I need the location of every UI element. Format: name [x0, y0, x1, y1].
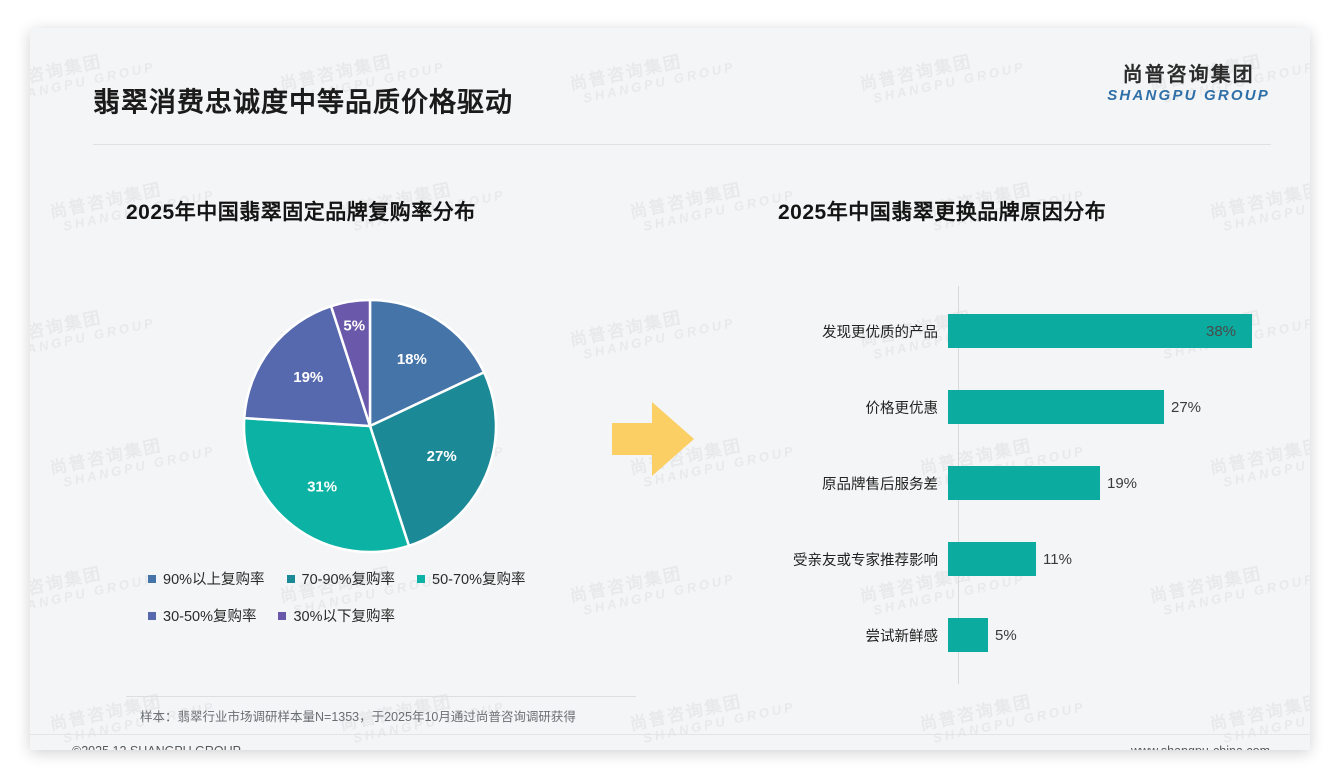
right-arrow-icon — [608, 396, 698, 487]
pie-legend-item[interactable]: 30-50%复购率 — [148, 605, 256, 626]
copyright-text: ©2025.12 SHANGPU GROUP — [72, 744, 241, 750]
bar-chart-row: 受亲友或专家推荐影响11% — [730, 542, 1290, 576]
legend-swatch-icon — [148, 575, 156, 583]
logo-english-text: SHANGPU GROUP — [1107, 87, 1270, 105]
pie-slice-label: 27% — [427, 448, 457, 465]
pie-legend-item[interactable]: 50-70%复购率 — [417, 568, 525, 589]
slide-header: 翡翠消费忠诚度中等品质价格驱动 尚普咨询集团 SHANGPU GROUP — [30, 28, 1310, 118]
bar-value-label: 11% — [1043, 551, 1072, 568]
pie-chart-svg: 18%27%31%19%5% — [240, 296, 500, 556]
pie-legend-label: 50-70%复购率 — [432, 568, 525, 589]
right-arrow-svg — [608, 396, 698, 482]
legend-swatch-icon — [148, 612, 156, 620]
watermark-text: 尚普咨询集团SHANGPU GROUP — [918, 681, 1087, 748]
logo-chinese-text: 尚普咨询集团 — [1107, 64, 1270, 87]
legend-swatch-icon — [287, 575, 295, 583]
watermark-text: 尚普咨询集团SHANGPU GROUP — [1208, 169, 1310, 236]
pie-slice-label: 18% — [397, 351, 427, 368]
pie-chart-title: 2025年中国翡翠固定品牌复购率分布 — [126, 196, 476, 226]
bar-chart-row: 原品牌售后服务差19% — [730, 466, 1290, 500]
legend-swatch-icon — [278, 612, 286, 620]
sample-note: 样本：翡翠行业市场调研样本量N=1353，于2025年10月通过尚普咨询调研获得 — [140, 706, 576, 725]
pie-legend-label: 30-50%复购率 — [163, 605, 256, 626]
pie-chart: 18%27%31%19%5% — [240, 296, 500, 556]
pie-legend-row-1: 90%以上复购率70-90%复购率50-70%复购率 — [148, 568, 618, 589]
pie-legend: 90%以上复购率70-90%复购率50-70%复购率 30-50%复购率30%以… — [148, 568, 618, 642]
watermark-text: 尚普咨询集团SHANGPU GROUP — [30, 553, 157, 620]
watermark-text: 尚普咨询集团SHANGPU GROUP — [568, 297, 737, 364]
bar-chart-row: 价格更优惠27% — [730, 390, 1290, 424]
bar-fill[interactable] — [948, 542, 1036, 576]
legend-swatch-icon — [417, 575, 425, 583]
header-divider — [93, 144, 1271, 145]
bar-category-label: 发现更优质的产品 — [730, 321, 948, 342]
pie-legend-item[interactable]: 30%以下复购率 — [278, 605, 395, 626]
watermark-text: 尚普咨询集团SHANGPU GROUP — [48, 425, 217, 492]
bar-track: 27% — [948, 390, 1290, 424]
brand-logo: 尚普咨询集团 SHANGPU GROUP — [1107, 64, 1270, 105]
bar-track: 5% — [948, 618, 1290, 652]
bar-category-label: 受亲友或专家推荐影响 — [730, 549, 948, 570]
bar-chart-title: 2025年中国翡翠更换品牌原因分布 — [778, 196, 1106, 226]
pie-legend-label: 70-90%复购率 — [302, 568, 395, 589]
bar-fill[interactable] — [948, 466, 1100, 500]
bar-chart: 发现更优质的产品38%价格更优惠27%原品牌售后服务差19%受亲友或专家推荐影响… — [730, 286, 1290, 684]
website-url[interactable]: www.shangpu-china.com — [1131, 744, 1270, 750]
bar-track: 38% — [948, 314, 1290, 348]
bar-category-label: 尝试新鲜感 — [730, 625, 948, 646]
watermark-text: 尚普咨询集团SHANGPU GROUP — [30, 297, 157, 364]
bar-value-label: 38% — [1206, 323, 1236, 340]
pie-slice-label: 31% — [307, 479, 337, 496]
bar-category-label: 价格更优惠 — [730, 397, 948, 418]
bar-value-label: 19% — [1107, 475, 1137, 492]
bar-track: 11% — [948, 542, 1290, 576]
page-title: 翡翠消费忠诚度中等品质价格驱动 — [93, 81, 513, 120]
slide-canvas: 尚普咨询集团SHANGPU GROUP尚普咨询集团SHANGPU GROUP尚普… — [30, 28, 1310, 750]
bar-track: 19% — [948, 466, 1290, 500]
watermark-text: 尚普咨询集团SHANGPU GROUP — [1208, 681, 1310, 748]
bar-value-label: 27% — [1171, 399, 1201, 416]
bar-category-label: 原品牌售后服务差 — [730, 473, 948, 494]
pie-legend-item[interactable]: 70-90%复购率 — [287, 568, 395, 589]
bar-chart-row: 发现更优质的产品38% — [730, 314, 1290, 348]
bar-fill[interactable] — [948, 390, 1164, 424]
pie-slice-label: 5% — [343, 317, 365, 334]
footer-divider — [30, 734, 1310, 735]
bar-value-label: 5% — [995, 627, 1017, 644]
pie-legend-item[interactable]: 90%以上复购率 — [148, 568, 265, 589]
bar-chart-row: 尝试新鲜感5% — [730, 618, 1290, 652]
pie-slice-label: 19% — [293, 369, 323, 386]
note-divider — [126, 696, 636, 697]
bar-fill[interactable] — [948, 618, 988, 652]
watermark-text: 尚普咨询集团SHANGPU GROUP — [628, 169, 797, 236]
pie-legend-label: 90%以上复购率 — [163, 568, 265, 589]
pie-legend-label: 30%以下复购率 — [293, 605, 395, 626]
pie-legend-row-2: 30-50%复购率30%以下复购率 — [148, 605, 618, 626]
watermark-text: 尚普咨询集团SHANGPU GROUP — [628, 681, 797, 748]
